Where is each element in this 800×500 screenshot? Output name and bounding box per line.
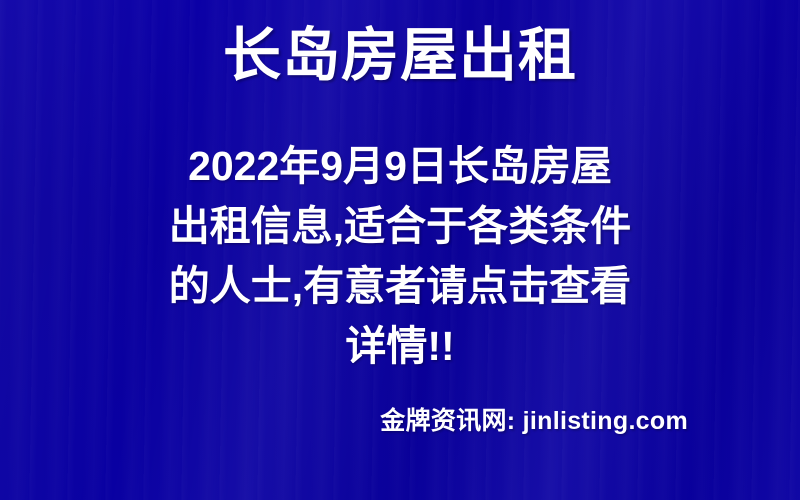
body-line-2: 出租信息,适合于各类条件	[60, 196, 740, 256]
body-line-3: 的人士,有意者请点击查看	[60, 256, 740, 316]
rental-ad-poster: 长岛房屋出租 2022年9月9日长岛房屋 出租信息,适合于各类条件 的人士,有意…	[0, 0, 800, 500]
body-line-4: 详情!!	[60, 316, 740, 376]
page-title: 长岛房屋出租	[0, 22, 800, 90]
poster-content: 长岛房屋出租 2022年9月9日长岛房屋 出租信息,适合于各类条件 的人士,有意…	[0, 0, 800, 500]
source-website-credit: 金牌资讯网: jinlisting.com	[0, 401, 688, 437]
body-line-1: 2022年9月9日长岛房屋	[60, 136, 740, 196]
body-text-block: 2022年9月9日长岛房屋 出租信息,适合于各类条件 的人士,有意者请点击查看 …	[60, 136, 740, 376]
